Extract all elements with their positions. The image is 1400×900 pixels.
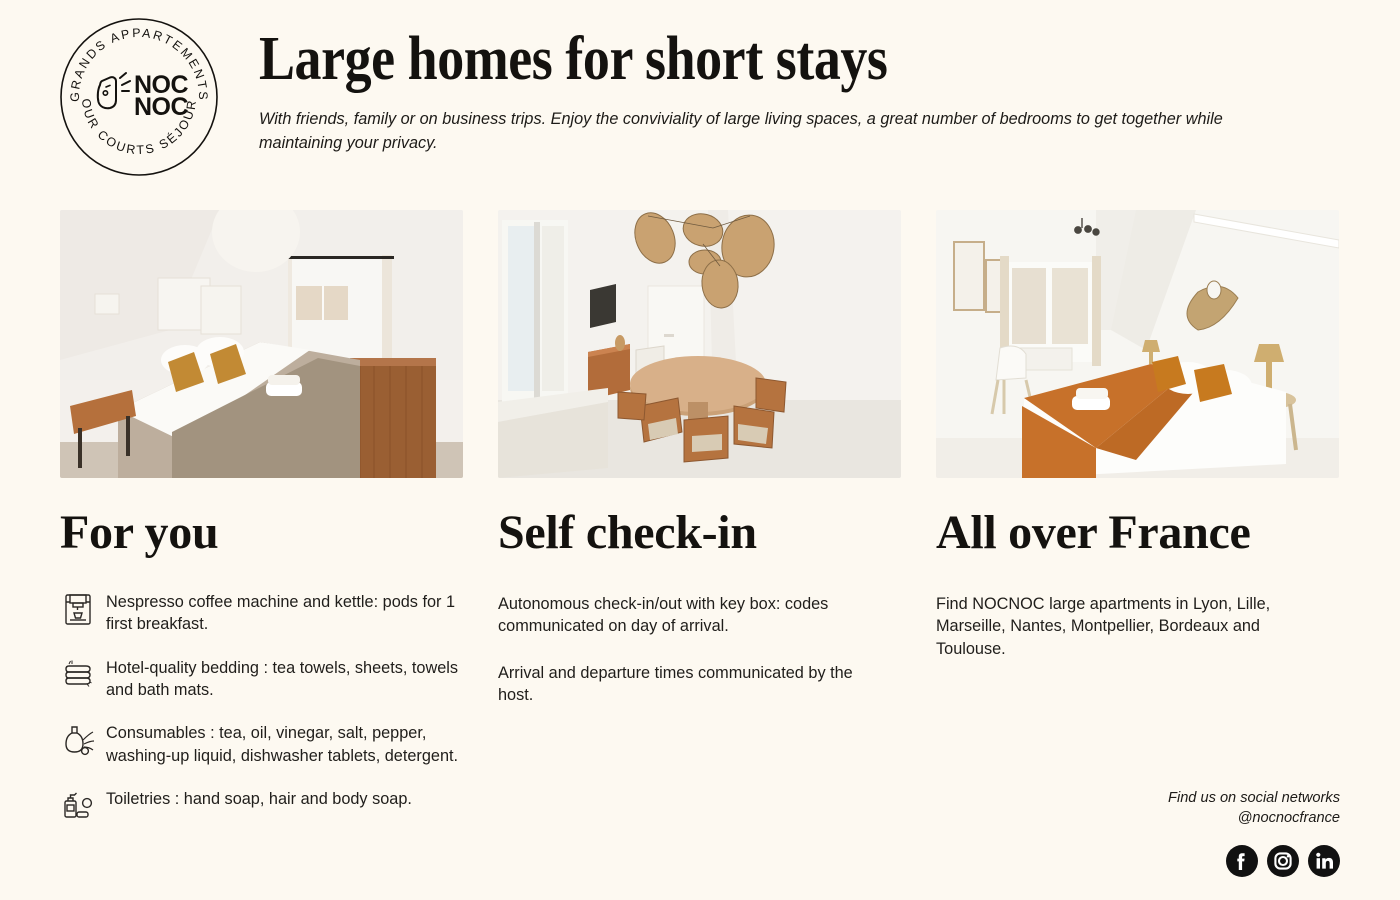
column-self-check-in: Self check-in Autonomous check-in/out wi… <box>498 210 901 730</box>
feature-item: Toiletries : hand soap, hair and body so… <box>60 788 463 830</box>
linkedin-icon[interactable] <box>1308 845 1340 877</box>
feature-text: Hotel-quality bedding : tea towels, shee… <box>106 657 463 702</box>
column-for-you: For you Nespresso coffee machine and ket… <box>60 210 463 851</box>
social-caption-line1: Find us on social networks <box>1020 788 1340 808</box>
folded-towels-icon <box>60 657 96 699</box>
feature-text: Toiletries : hand soap, hair and body so… <box>106 788 463 810</box>
nocnoc-logo[interactable]: GRANDS APPARTEMENTS POUR COURTS SÉJOURS … <box>58 16 220 178</box>
social-block: Find us on social networks @nocnocfrance <box>1020 788 1340 877</box>
instagram-icon[interactable] <box>1267 845 1299 877</box>
paragraph: Autonomous check-in/out with key box: co… <box>498 593 888 638</box>
feature-list-for-you: Nespresso coffee machine and kettle: pod… <box>60 591 463 830</box>
feature-text: Consumables : tea, oil, vinegar, salt, p… <box>106 722 463 767</box>
feature-item: Consumables : tea, oil, vinegar, salt, p… <box>60 722 463 767</box>
feature-text: Nespresso coffee machine and kettle: pod… <box>106 591 463 636</box>
photo-bedroom-mustard <box>60 210 463 478</box>
social-caption: Find us on social networks @nocnocfrance <box>1020 788 1340 828</box>
column-title-for-you: For you <box>60 509 463 557</box>
title-block: Large homes for short stays With friends… <box>259 28 1329 156</box>
social-icon-row <box>1020 845 1340 877</box>
paragraph: Arrival and departure times communicated… <box>498 662 888 707</box>
soap-dispenser-icon <box>60 788 96 830</box>
paragraph: Find NOCNOC large apartments in Lyon, Li… <box>936 593 1331 660</box>
photo-attic-bedroom <box>936 210 1339 478</box>
photo-dining-room <box>498 210 901 478</box>
social-handle: @nocnocfrance <box>1020 808 1340 828</box>
coffee-machine-icon <box>60 591 96 633</box>
page-header: GRANDS APPARTEMENTS POUR COURTS SÉJOURS … <box>0 0 1400 200</box>
facebook-icon[interactable] <box>1226 845 1258 877</box>
column-all-over-france: All over France Find NOCNOC large apartm… <box>936 210 1339 684</box>
paragraph-list-all-over-france: Find NOCNOC large apartments in Lyon, Li… <box>936 593 1339 660</box>
column-title-all-over-france: All over France <box>936 509 1339 557</box>
oil-bottle-herbs-icon <box>60 722 96 764</box>
page-subtitle: With friends, family or on business trip… <box>259 108 1305 156</box>
paragraph-list-self-check-in: Autonomous check-in/out with key box: co… <box>498 593 901 706</box>
feature-item: Nespresso coffee machine and kettle: pod… <box>60 591 463 636</box>
page-title: Large homes for short stays <box>259 28 1190 90</box>
svg-text:NOC: NOC <box>134 93 189 121</box>
feature-item: Hotel-quality bedding : tea towels, shee… <box>60 657 463 702</box>
column-title-self-check-in: Self check-in <box>498 509 901 557</box>
